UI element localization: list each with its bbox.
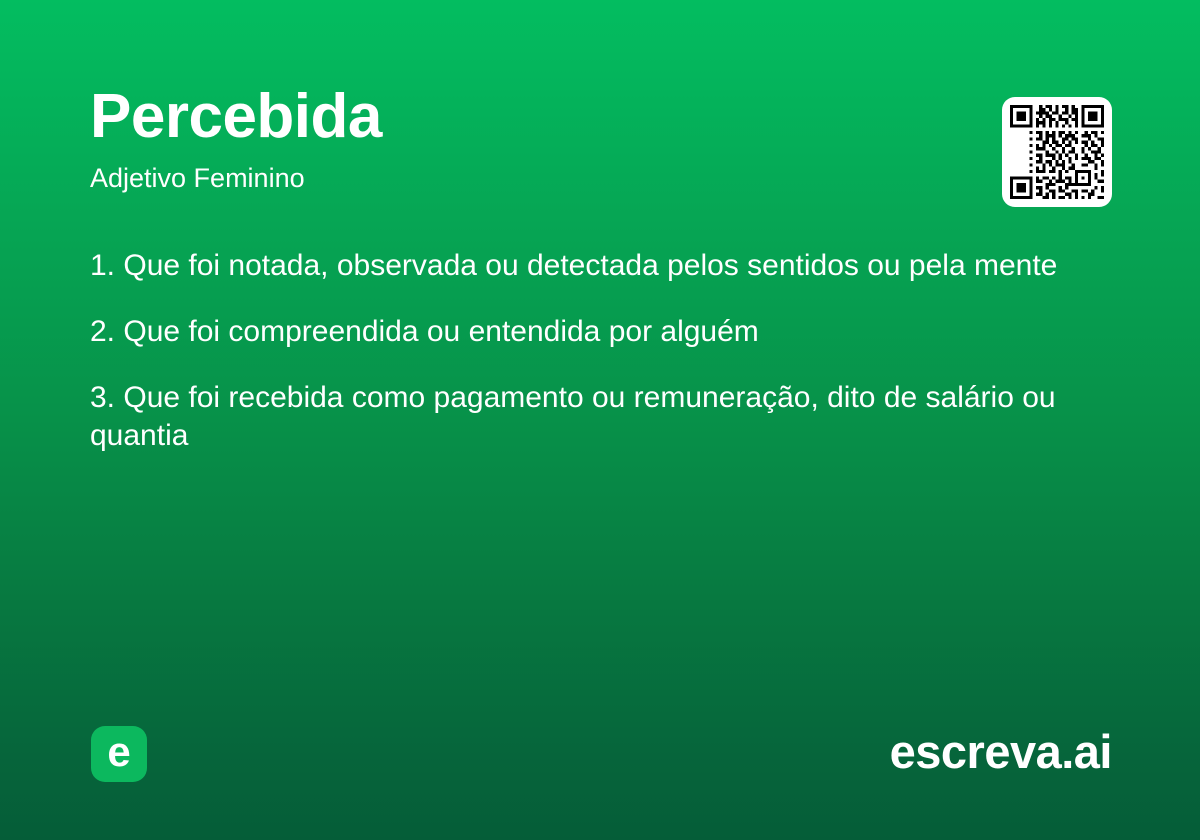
card-header: Percebida Adjetivo Feminino bbox=[90, 86, 970, 194]
definition-item: 3. Que foi recebida como pagamento ou re… bbox=[90, 379, 1070, 455]
brand-wordmark[interactable]: escreva.ai bbox=[890, 725, 1112, 779]
qr-code-icon bbox=[1010, 105, 1104, 199]
word-class-label: Adjetivo Feminino bbox=[90, 164, 970, 194]
qr-code-card[interactable] bbox=[1002, 97, 1112, 207]
escreva-logo-icon[interactable]: e bbox=[91, 726, 147, 782]
definition-list: 1. Que foi notada, observada ou detectad… bbox=[90, 247, 1070, 455]
definition-item: 2. Que foi compreendida ou entendida por… bbox=[90, 313, 1070, 351]
definition-item: 1. Que foi notada, observada ou detectad… bbox=[90, 247, 1070, 285]
page-title: Percebida bbox=[90, 86, 970, 148]
logo-letter: e bbox=[107, 731, 130, 773]
dictionary-card: Percebida Adjetivo Feminino bbox=[0, 0, 1200, 840]
